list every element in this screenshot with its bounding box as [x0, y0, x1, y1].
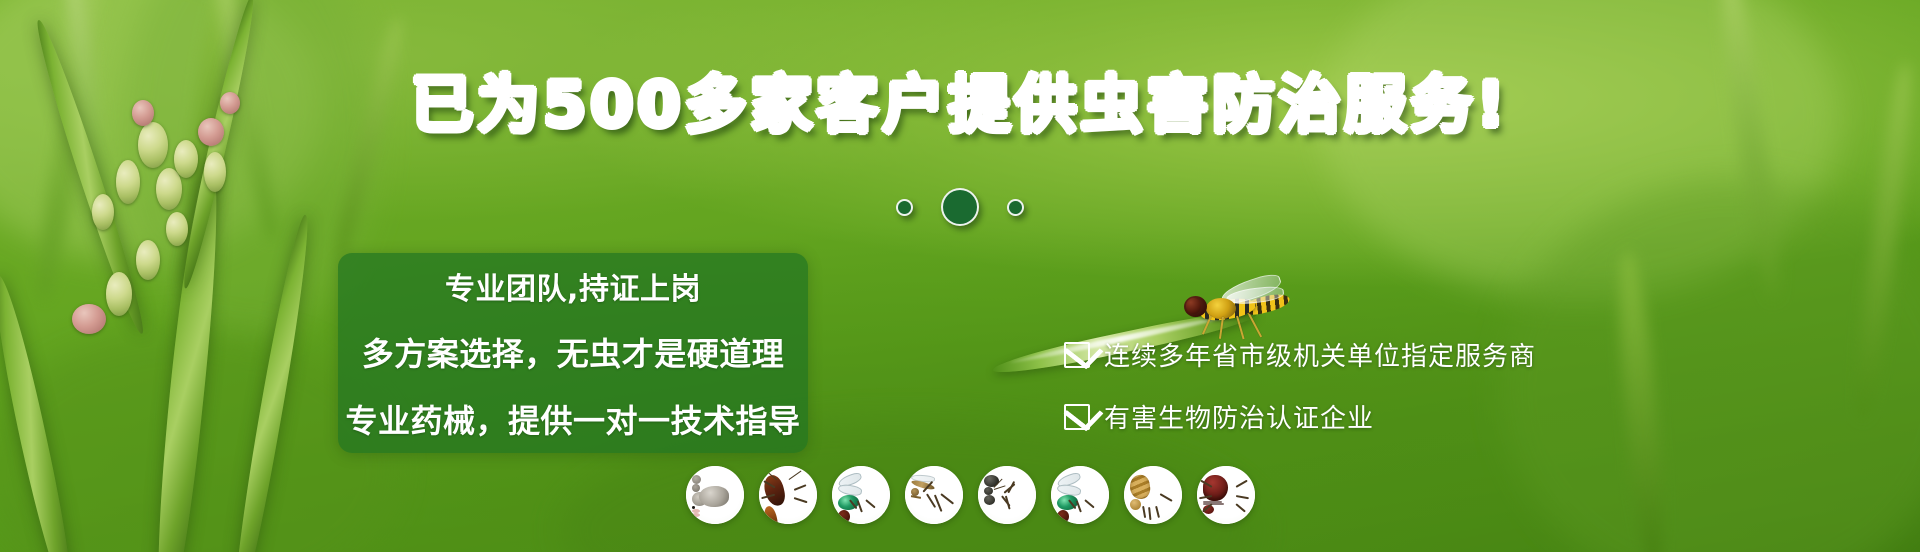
mosquito-icon — [911, 475, 957, 515]
pest-icon-row — [686, 466, 1255, 524]
feature-label: 连续多年省市级机关单位指定服务商 — [1104, 336, 1536, 373]
checkbox-checked-icon — [1064, 342, 1090, 368]
flea-icon — [1130, 475, 1176, 515]
fly-icon — [838, 475, 884, 515]
fly-icon — [1057, 475, 1103, 515]
feature-item: 有害生物防治认证企业 — [1064, 398, 1536, 435]
dot-small-left — [896, 199, 913, 216]
hoverfly-icon — [1176, 276, 1300, 338]
pest-icon-mouse[interactable] — [686, 466, 744, 524]
pest-icon-flea[interactable] — [1124, 466, 1182, 524]
pest-icon-cockroach[interactable] — [759, 466, 817, 524]
banner-headline: 已为500多家客户提供虫害防治服务! — [0, 74, 1920, 136]
pest-control-banner: 已为500多家客户提供虫害防治服务! 专业团队,持证上岗 多方案选择，无虫才是硬… — [0, 0, 1920, 552]
dot-large-center — [941, 188, 979, 226]
dot-small-right — [1007, 199, 1024, 216]
pest-icon-bedbug[interactable] — [1197, 466, 1255, 524]
pest-icon-fly-2[interactable] — [1051, 466, 1109, 524]
pest-icon-mosquito[interactable] — [905, 466, 963, 524]
decorative-dots — [0, 188, 1920, 226]
feature-list: 连续多年省市级机关单位指定服务商 有害生物防治认证企业 — [1064, 336, 1536, 435]
ant-icon — [984, 475, 1030, 515]
feature-label: 有害生物防治认证企业 — [1104, 398, 1374, 435]
bedbug-icon — [1203, 475, 1249, 515]
pest-icon-fly[interactable] — [832, 466, 890, 524]
panel-line-1: 专业团队,持证上岗 — [445, 264, 701, 308]
cockroach-icon — [765, 475, 811, 515]
pest-icon-ant[interactable] — [978, 466, 1036, 524]
checkbox-checked-icon — [1064, 404, 1090, 430]
feature-item: 连续多年省市级机关单位指定服务商 — [1064, 336, 1536, 373]
mouse-icon — [692, 475, 738, 515]
panel-line-2: 多方案选择，无虫才是硬道理 — [362, 329, 785, 375]
headline-text: 已为500多家客户提供虫害防治服务! — [411, 68, 1509, 141]
panel-line-3: 专业药械，提供一对一技术指导 — [346, 396, 801, 442]
selling-points-panel: 专业团队,持证上岗 多方案选择，无虫才是硬道理 专业药械，提供一对一技术指导 — [338, 253, 808, 453]
